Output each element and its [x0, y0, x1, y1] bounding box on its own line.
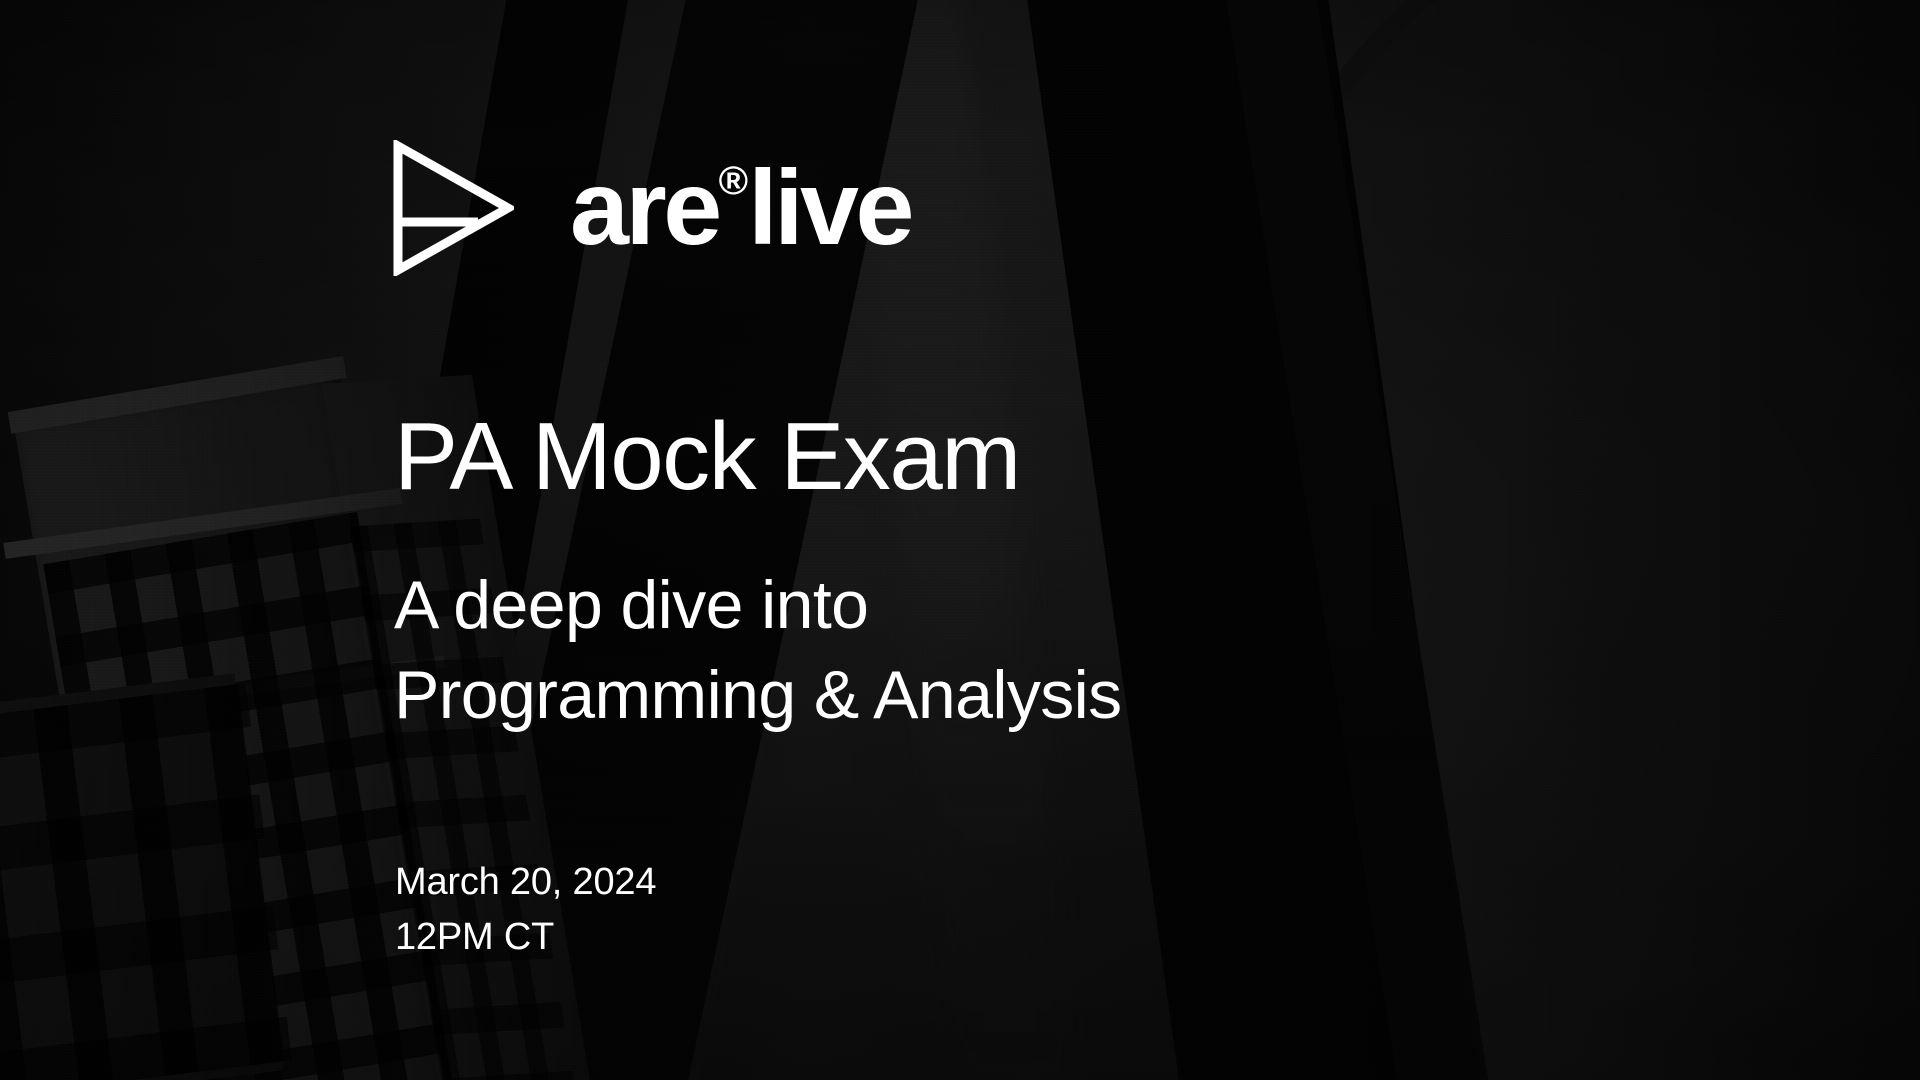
subtitle-line-1: A deep dive into [394, 560, 1122, 650]
promo-slide: are®live PA Mock Exam A deep dive into P… [0, 0, 1920, 1080]
event-details: March 20, 2024 12PM CT [395, 855, 656, 965]
brand-wordmark: are®live [570, 155, 911, 261]
brand-lockup: are®live [392, 140, 911, 276]
event-date: March 20, 2024 [395, 855, 656, 910]
page-title: PA Mock Exam [394, 406, 1020, 508]
subtitle-line-2: Programming & Analysis [394, 650, 1122, 740]
subtitle: A deep dive into Programming & Analysis [394, 560, 1122, 741]
registered-trademark-icon: ® [719, 161, 748, 201]
brand-word-live: live [748, 155, 911, 261]
event-time: 12PM CT [395, 910, 656, 965]
slide-content: are®live PA Mock Exam A deep dive into P… [392, 0, 1692, 1080]
brand-word-are: are [570, 155, 719, 261]
play-triangle-outline-icon [392, 140, 514, 276]
